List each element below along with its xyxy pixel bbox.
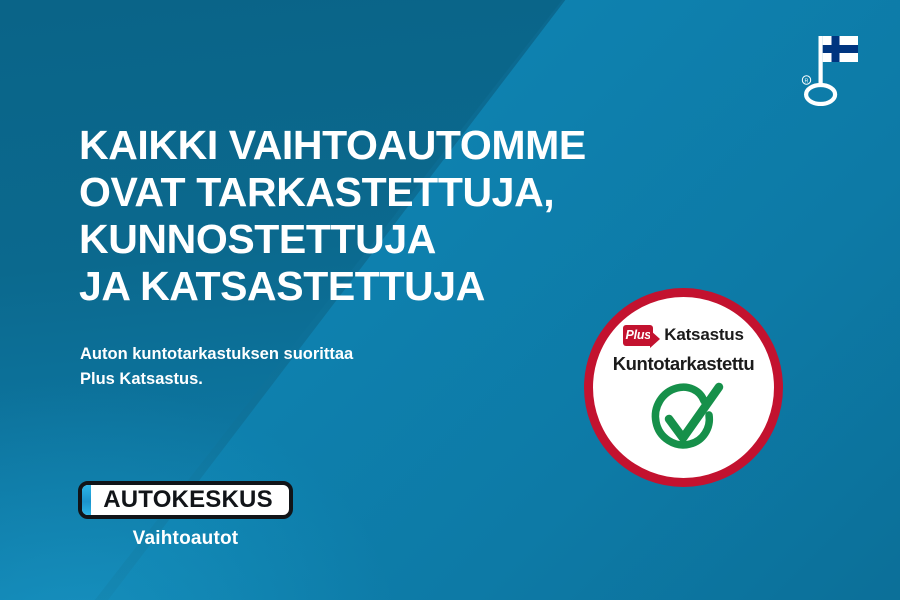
headline: KAIKKI VAIHTOAUTOMME OVAT TARKASTETTUJA,… xyxy=(79,122,679,310)
license-plate-logo: AUTOKESKUS xyxy=(78,481,293,519)
subtitle-line-2: Plus Katsastus. xyxy=(80,367,500,392)
avainlippu-key-flag-icon: R xyxy=(786,28,858,106)
badge-title: Kuntotarkastettu xyxy=(613,353,755,375)
svg-text:R: R xyxy=(805,79,809,85)
brand-name: AUTOKESKUS xyxy=(82,486,289,514)
inspection-badge: Plus Katsastus Kuntotarkastettu xyxy=(584,288,783,487)
badge-brand-row: Plus Katsastus xyxy=(623,324,743,346)
promo-banner: R KAIKKI VAIHTOAUTOMME OVAT TARKASTETTUJ… xyxy=(0,0,900,600)
plus-label: Plus xyxy=(623,325,653,346)
subtitle: Auton kuntotarkastuksen suorittaa Plus K… xyxy=(80,342,500,392)
plus-logo-mark: Plus xyxy=(623,325,659,346)
green-check-circle-icon xyxy=(638,381,730,463)
logo-sublabel: Vaihtoautot xyxy=(78,528,293,550)
headline-line-2: OVAT TARKASTETTUJA, xyxy=(79,169,679,216)
headline-line-1: KAIKKI VAIHTOAUTOMME xyxy=(79,122,679,169)
plus-tail-shape xyxy=(650,330,660,348)
headline-line-3: KUNNOSTETTUJA xyxy=(79,216,679,263)
autokeskus-logo[interactable]: AUTOKESKUS Vaihtoautot xyxy=(78,481,318,550)
subtitle-line-1: Auton kuntotarkastuksen suorittaa xyxy=(80,342,500,367)
badge-brand-name: Katsastus xyxy=(664,325,743,345)
headline-line-4: JA KATSASTETTUJA xyxy=(79,263,679,310)
